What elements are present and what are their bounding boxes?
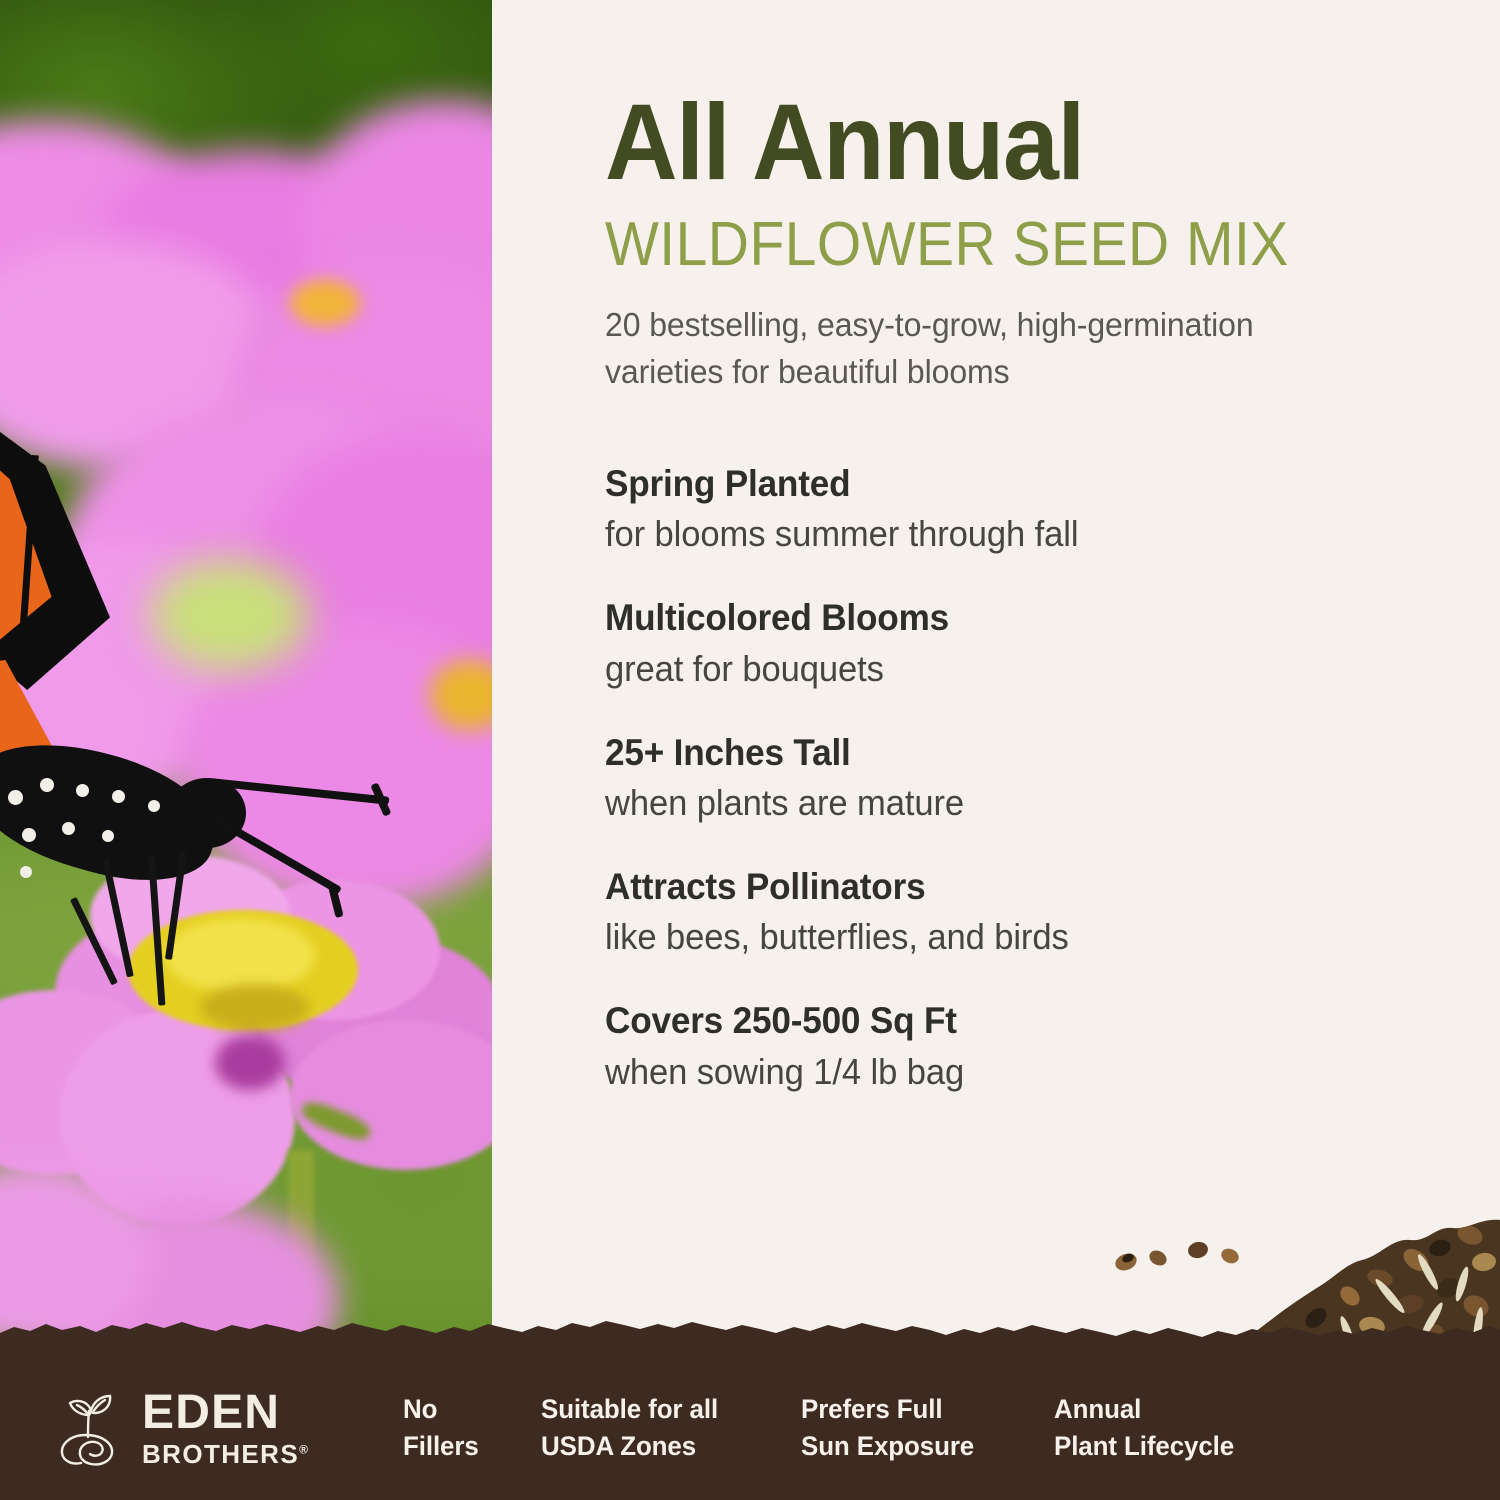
badge-usda-zones: Suitable for all USDA Zones xyxy=(541,1391,786,1463)
feature-subtext: when plants are mature xyxy=(605,780,1450,825)
badge-line-1: Prefers Full xyxy=(801,1391,1041,1427)
page-subtitle: WILDFLOWER SEED MIX xyxy=(605,214,1415,276)
badge-line-2: USDA Zones xyxy=(541,1428,786,1464)
trademark-symbol: ® xyxy=(299,1442,309,1456)
flower-center-blur xyxy=(290,280,360,326)
brand-wordmark: EDEN BROTHERS® xyxy=(142,1389,309,1467)
feature-item: 25+ Inches Tall when plants are mature xyxy=(605,731,1485,825)
brand-name-top: EDEN xyxy=(142,1389,309,1437)
badge-line-1: Suitable for all xyxy=(541,1391,786,1427)
badge-line-1: No xyxy=(403,1391,528,1427)
product-photo xyxy=(0,0,492,1500)
feature-list: Spring Planted for blooms summer through… xyxy=(605,462,1485,1094)
feature-subtext: great for bouquets xyxy=(605,646,1450,691)
footer-bar: EDEN BROTHERS® No Fillers Suitable for a… xyxy=(0,1355,1500,1500)
badge-line-2: Plant Lifecycle xyxy=(1054,1428,1313,1464)
feature-heading: Spring Planted xyxy=(605,462,1441,506)
soil-footer: EDEN BROTHERS® No Fillers Suitable for a… xyxy=(0,1315,1500,1500)
feature-subtext: like bees, butterflies, and birds xyxy=(605,914,1450,959)
butterfly-body-spot xyxy=(112,790,125,803)
feature-subtext: when sowing 1/4 lb bag xyxy=(605,1049,1450,1094)
feature-item: Covers 250-500 Sq Ft when sowing 1/4 lb … xyxy=(605,999,1485,1093)
feature-heading: Multicolored Blooms xyxy=(605,596,1441,640)
product-infographic: All Annual WILDFLOWER SEED MIX 20 bestse… xyxy=(0,0,1500,1500)
butterfly-body-spot xyxy=(148,800,160,812)
page-title: All Annual xyxy=(605,0,1423,196)
badge-no-fillers: No Fillers xyxy=(403,1391,528,1463)
butterfly-body-spot xyxy=(62,822,75,835)
butterfly-body-spot xyxy=(102,830,114,842)
flower-center-highlight xyxy=(165,918,315,993)
flower-center-shadow xyxy=(200,985,310,1030)
content-panel: All Annual WILDFLOWER SEED MIX 20 bestse… xyxy=(492,0,1500,1500)
feature-heading: 25+ Inches Tall xyxy=(605,731,1441,775)
eden-brothers-seedling-icon xyxy=(55,1389,129,1467)
butterfly-body-spot xyxy=(20,866,32,878)
petal-shadow xyxy=(215,1035,285,1090)
monarch-butterfly xyxy=(0,360,300,920)
badge-line-1: Annual xyxy=(1054,1391,1313,1427)
feature-item: Attracts Pollinators like bees, butterfl… xyxy=(605,865,1485,959)
badge-line-2: Fillers xyxy=(403,1428,528,1464)
feature-item: Spring Planted for blooms summer through… xyxy=(605,462,1485,556)
feature-heading: Covers 250-500 Sq Ft xyxy=(605,999,1441,1043)
description-line-2: varieties for beautiful blooms xyxy=(605,349,1459,396)
butterfly-body-spot xyxy=(76,784,89,797)
brand-logo[interactable]: EDEN BROTHERS® xyxy=(55,1389,310,1467)
butterfly-body-spot xyxy=(22,828,36,842)
badge-sun-exposure: Prefers Full Sun Exposure xyxy=(801,1391,1041,1463)
feature-item: Multicolored Blooms great for bouquets xyxy=(605,596,1485,690)
brand-name-bottom: BROTHERS® xyxy=(142,1441,309,1467)
feature-subtext: for blooms summer through fall xyxy=(605,511,1450,556)
page-description: 20 bestselling, easy-to-grow, high-germi… xyxy=(605,302,1459,396)
brand-name-bottom-text: BROTHERS xyxy=(142,1439,299,1469)
feature-heading: Attracts Pollinators xyxy=(605,865,1441,909)
butterfly-body-spot xyxy=(40,778,54,792)
badge-plant-lifecycle: Annual Plant Lifecycle xyxy=(1054,1391,1313,1463)
butterfly-body-spot xyxy=(8,790,23,805)
badge-line-2: Sun Exposure xyxy=(801,1428,1041,1464)
description-line-1: 20 bestselling, easy-to-grow, high-germi… xyxy=(605,302,1459,349)
